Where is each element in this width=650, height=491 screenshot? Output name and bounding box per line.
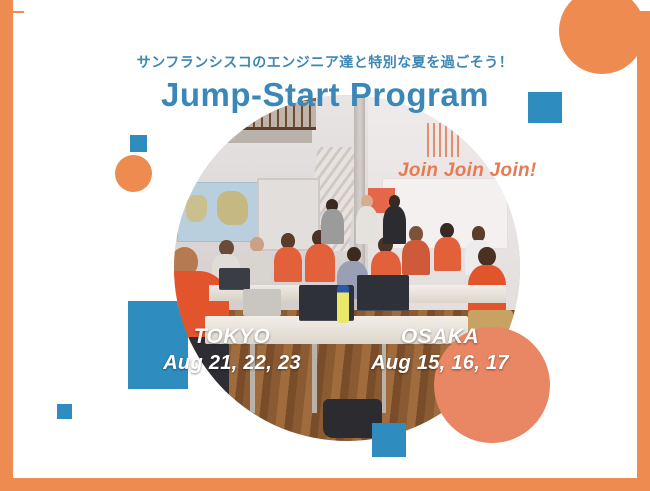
top-white-strip	[13, 0, 650, 11]
blue-square-accent-bottom-mid	[372, 423, 406, 457]
photo-person-body	[402, 240, 430, 275]
photo-wall-art	[427, 123, 462, 158]
photo-world-map	[177, 182, 259, 243]
session-dates: Aug 15, 16, 17	[355, 352, 525, 375]
frame-border-right	[637, 0, 650, 491]
photo-person-body	[434, 237, 462, 272]
photo-person-head	[478, 247, 495, 266]
orange-circle-accent-left	[115, 155, 152, 192]
photo-laptop	[219, 268, 250, 289]
session-osaka: OSAKA Aug 15, 16, 17	[355, 325, 525, 375]
photo-person-head	[250, 237, 264, 252]
frame-border-bottom	[0, 478, 650, 491]
photo-person-body	[383, 206, 405, 244]
japanese-headline: サンフランシスコのエンジニア達と特別な夏を過ごそう！	[0, 52, 650, 72]
blue-square-accent-bottom-left	[57, 404, 72, 419]
photo-person-body	[356, 206, 378, 244]
frame-border-left	[0, 0, 13, 491]
session-tokyo: TOKYO Aug 21, 22, 23	[142, 325, 322, 375]
photo-water-bottle	[337, 285, 349, 323]
photo-person-body	[274, 247, 302, 282]
join-call-to-action: Join Join Join!	[398, 160, 537, 182]
session-dates: Aug 21, 22, 23	[142, 352, 322, 375]
photo-person-body	[321, 209, 343, 244]
poster-canvas: サンフランシスコのエンジニア達と特別な夏を過ごそう！ Jump-Start Pr…	[0, 0, 650, 491]
photo-person-body	[305, 244, 334, 282]
session-city-name: TOKYO	[142, 325, 322, 349]
page-title: Jump-Start Program	[0, 76, 650, 114]
photo-laptop	[357, 275, 409, 310]
session-city-name: OSAKA	[355, 325, 525, 349]
photo-laptop	[243, 289, 281, 317]
blue-square-accent-left-top	[130, 135, 147, 152]
